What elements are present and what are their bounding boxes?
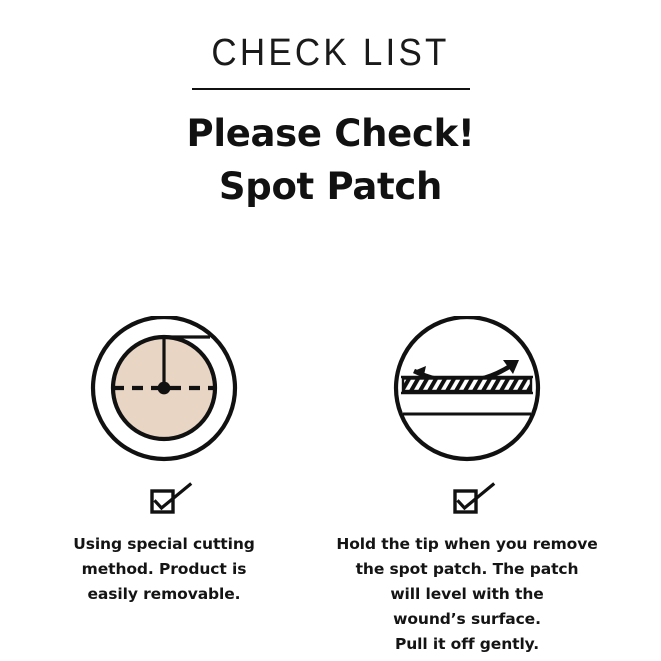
header-divider [192,88,470,90]
peeling-patch-cross-section-icon [317,316,617,466]
caption-line: will level with the [317,582,617,607]
caption-line: Pull it off gently. [317,632,617,657]
caption-line: method. Product is [14,557,314,582]
checked-checkbox-icon [14,478,314,522]
concentric-circles-with-cut-line-icon [14,316,314,466]
caption-line: Hold the tip when you remove [317,532,617,557]
caption-line: the spot patch. The patch [317,557,617,582]
header: CHECK LIST [0,34,661,90]
panel-removal-method-caption: Hold the tip when you remove the spot pa… [317,532,617,658]
page-title: Please Check! Spot Patch [0,108,661,213]
caption-line: Using special cutting [14,532,314,557]
page-kicker: CHECK LIST [26,34,634,74]
caption-line: wound’s surface. [317,607,617,632]
page-title-line-2: Spot Patch [0,161,661,214]
caption-line: easily removable. [14,582,314,607]
check-list-infographic: CHECK LIST Please Check! Spot Patch Usin… [0,0,661,661]
page-title-line-1: Please Check! [0,108,661,161]
panel-cutting-method-caption: Using special cutting method. Product is… [14,532,314,607]
panel-removal-method: Hold the tip when you remove the spot pa… [317,316,617,658]
checked-checkbox-icon [317,478,617,522]
panel-cutting-method: Using special cutting method. Product is… [14,316,314,607]
